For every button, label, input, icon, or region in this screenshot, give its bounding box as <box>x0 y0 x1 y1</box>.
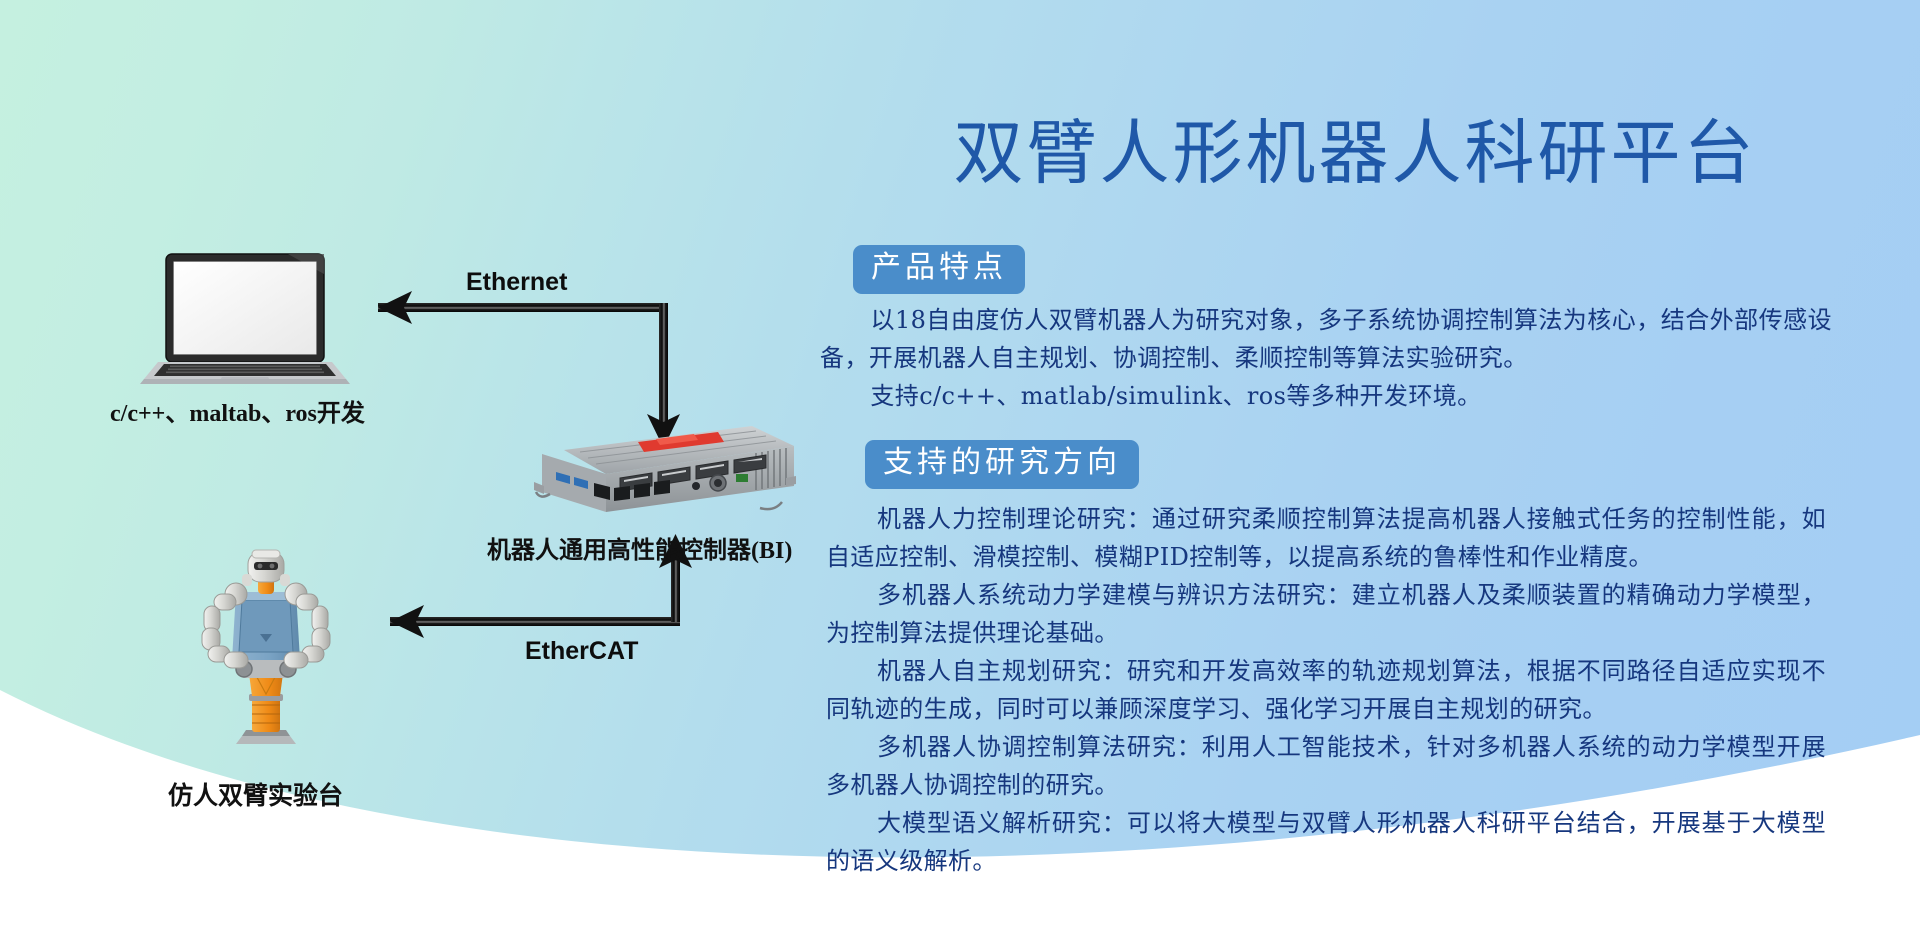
poster-canvas: c/c++、maltab、ros开发 机器人通用高性能控制器(BI) 仿人双臂实… <box>0 0 1920 937</box>
research-direction-1: 机器人力控制理论研究：通过研究柔顺控制算法提高机器人接触式任务的控制性能，如自适… <box>826 500 1826 576</box>
paragraph-text: 以18自由度仿人双臂机器人为研究对象，多子系统协调控制算法为核心，结合外部传感设… <box>820 306 1832 372</box>
ethercat-label: EtherCAT <box>525 637 638 666</box>
robot-label: 仿人双臂实验台 <box>168 776 343 812</box>
research-direction-4: 多机器人协调控制算法研究：利用人工智能技术，针对多机器人系统的动力学模型开展多机… <box>826 728 1826 804</box>
section-badge-product-features: 产品特点 <box>853 245 1025 294</box>
paragraph-text: 机器人力控制理论研究：通过研究柔顺控制算法提高机器人接触式任务的控制性能，如自适… <box>826 505 1826 571</box>
paragraph-text: 大模型语义解析研究：可以将大模型与双臂人形机器人科研平台结合，开展基于大模型的语… <box>826 809 1826 875</box>
research-direction-3: 机器人自主规划研究：研究和开发高效率的轨迹规划算法，根据不同路径自适应实现不同轨… <box>826 652 1826 728</box>
section-badge-research-directions: 支持的研究方向 <box>865 440 1139 489</box>
controller-label: 机器人通用高性能控制器(BI) <box>487 530 792 565</box>
laptop-icon <box>138 252 352 387</box>
paragraph-text: 机器人自主规划研究：研究和开发高效率的轨迹规划算法，根据不同路径自适应实现不同轨… <box>826 657 1826 723</box>
product-features-paragraph-2: 支持c/c++、matlab/simulink、ros等多种开发环境。 <box>820 377 1832 415</box>
humanoid-robot-icon <box>186 548 346 748</box>
system-architecture-diagram: c/c++、maltab、ros开发 机器人通用高性能控制器(BI) 仿人双臂实… <box>0 0 860 937</box>
paragraph-text: 多机器人协调控制算法研究：利用人工智能技术，针对多机器人系统的动力学模型开展多机… <box>826 733 1826 799</box>
paragraph-text: 支持c/c++、matlab/simulink、ros等多种开发环境。 <box>870 382 1481 410</box>
research-direction-2: 多机器人系统动力学建模与辨识方法研究：建立机器人及柔顺装置的精确动力学模型，为控… <box>826 576 1826 652</box>
content-panel: 双臂人形机器人科研平台 产品特点 以18自由度仿人双臂机器人为研究对象，多子系统… <box>820 0 1920 937</box>
industrial-controller-icon <box>528 420 796 522</box>
ethernet-label: Ethernet <box>466 268 567 297</box>
paragraph-text: 多机器人系统动力学建模与辨识方法研究：建立机器人及柔顺装置的精确动力学模型，为控… <box>826 581 1826 647</box>
research-direction-5: 大模型语义解析研究：可以将大模型与双臂人形机器人科研平台结合，开展基于大模型的语… <box>826 804 1826 880</box>
page-title: 双臂人形机器人科研平台 <box>845 118 1865 188</box>
product-features-paragraph-1: 以18自由度仿人双臂机器人为研究对象，多子系统协调控制算法为核心，结合外部传感设… <box>820 301 1832 377</box>
laptop-label: c/c++、maltab、ros开发 <box>110 393 365 428</box>
